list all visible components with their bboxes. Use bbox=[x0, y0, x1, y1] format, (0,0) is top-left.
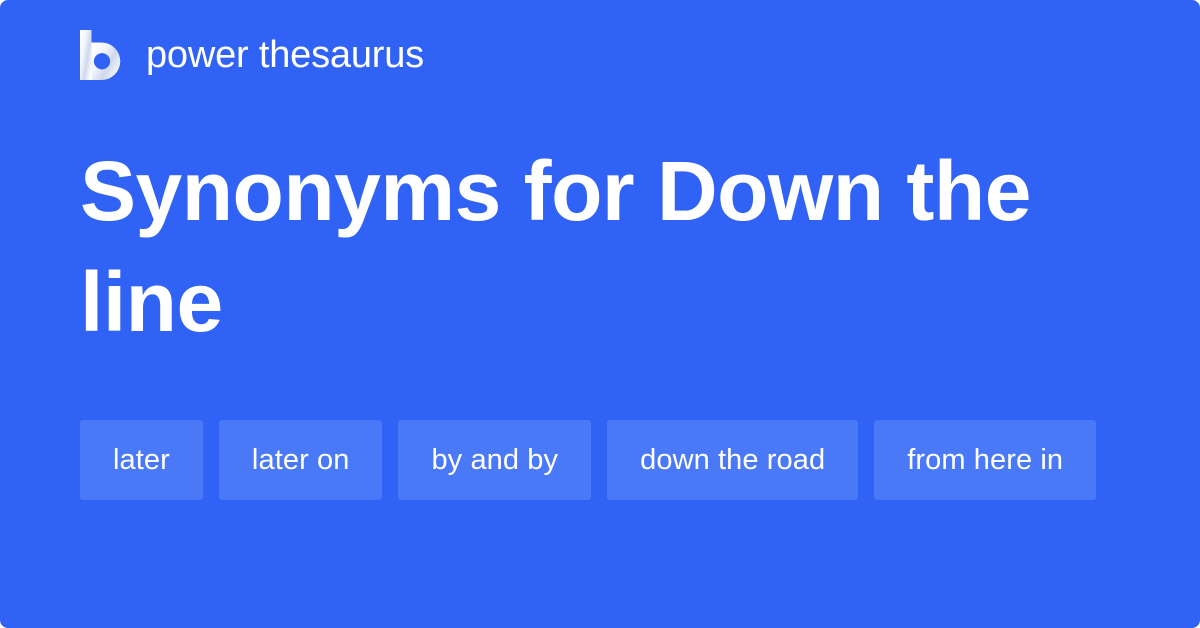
page-title: Synonyms for Down the line bbox=[80, 136, 1090, 358]
social-share-card: power thesaurus Synonyms for Down the li… bbox=[0, 0, 1200, 628]
synonym-chip[interactable]: down the road bbox=[607, 420, 858, 500]
brand-wordmark: power thesaurus bbox=[146, 36, 424, 74]
brand-header[interactable]: power thesaurus bbox=[80, 24, 424, 86]
synonym-chip[interactable]: later bbox=[80, 420, 203, 500]
synonym-chip[interactable]: by and by bbox=[398, 420, 591, 500]
synonym-chip-list: later later on by and by down the road f… bbox=[80, 420, 1120, 500]
synonym-chip[interactable]: later on bbox=[219, 420, 383, 500]
power-thesaurus-b-logo-icon bbox=[80, 30, 146, 80]
synonym-chip[interactable]: from here in bbox=[874, 420, 1096, 500]
